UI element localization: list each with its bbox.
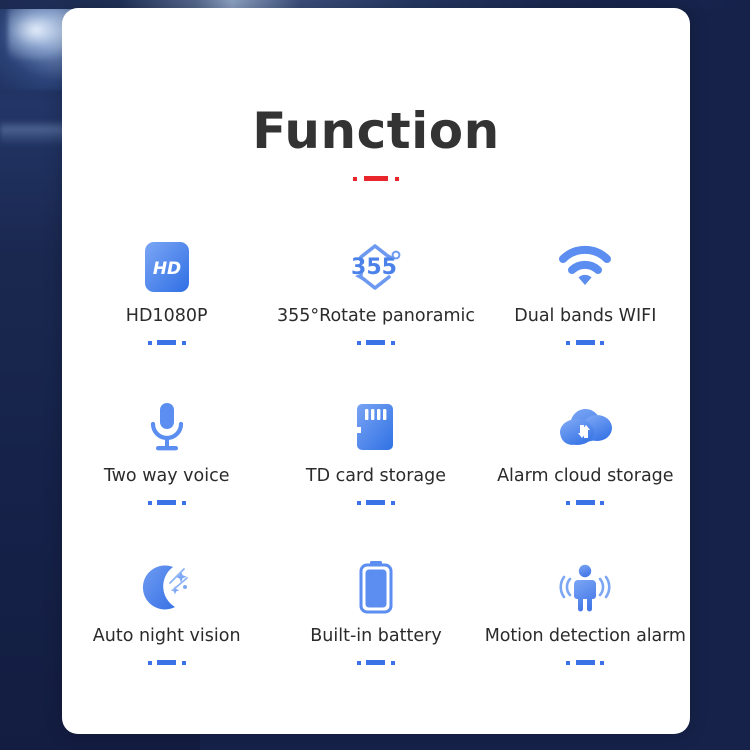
divider-dot-right [182,501,186,505]
divider-dot-left [357,661,361,665]
feature-label: Dual bands WIFI [514,306,656,326]
feature-row: Auto night vision [62,556,690,716]
divider-bar [576,660,595,665]
feature-divider [148,660,186,665]
divider-dot-right [600,501,604,505]
title-divider [353,176,399,181]
feature-divider [566,340,604,345]
feature-divider [148,500,186,505]
divider-dot-right [600,661,604,665]
divider-dot-left [353,177,357,181]
feature-divider [148,340,186,345]
divider-dot-left [148,501,152,505]
feature-label: Two way voice [104,466,230,486]
feature-label: TD card storage [306,466,446,486]
feature-item-td-card-storage[interactable]: TD card storage [271,396,480,556]
feature-label: HD1080P [126,306,208,326]
divider-bar [366,660,385,665]
page-title: Function [62,8,690,160]
motion-person-icon [556,556,614,618]
feature-label: Auto night vision [93,626,241,646]
divider-dot-left [566,341,570,345]
divider-dot-right [182,341,186,345]
wifi-icon [556,236,614,298]
feature-item-355-rotate[interactable]: 355 355°Rotate panoramic [271,236,480,396]
feature-label: Built-in battery [310,626,441,646]
divider-dot-left [357,501,361,505]
divider-dot-right [391,661,395,665]
divider-dot-left [566,661,570,665]
svg-text:HD: HD [152,259,180,279]
divider-dot-left [357,341,361,345]
feature-item-alarm-cloud-storage[interactable]: Alarm cloud storage [481,396,690,556]
feature-grid: HD HD1080P [62,236,690,716]
feature-label: Alarm cloud storage [497,466,674,486]
divider-bar [366,500,385,505]
divider-dot-right [182,661,186,665]
divider-bar [366,340,385,345]
feature-divider [357,500,395,505]
cloud-sync-icon [555,396,615,458]
divider-dot-left [566,501,570,505]
divider-dot-right [395,177,399,181]
battery-icon [357,556,395,618]
feature-divider [566,500,604,505]
rotate-355-degrees-icon: 355 [346,236,406,298]
divider-dot-left [148,661,152,665]
divider-bar [576,340,595,345]
feature-divider [566,660,604,665]
divider-dot-right [391,341,395,345]
divider-bar [157,660,176,665]
poster-stage: Function [0,0,750,750]
feature-item-two-way-voice[interactable]: Two way voice [62,396,271,556]
feature-label: 355°Rotate panoramic [277,306,475,326]
feature-item-auto-night-vision[interactable]: Auto night vision [62,556,271,716]
svg-text:355: 355 [351,255,397,280]
feature-item-hd1080p[interactable]: HD HD1080P [62,236,271,396]
sd-card-icon [353,396,399,458]
feature-label: Motion detection alarm [485,626,686,646]
moon-stars-icon [140,556,194,618]
divider-bar [157,340,176,345]
feature-row: HD HD1080P [62,236,690,396]
feature-card: Function [62,8,690,734]
divider-bar [157,500,176,505]
feature-row: Two way voice [62,396,690,556]
divider-dot-right [600,341,604,345]
feature-item-built-in-battery[interactable]: Built-in battery [271,556,480,716]
feature-item-motion-detection-alarm[interactable]: Motion detection alarm [481,556,690,716]
divider-dot-right [391,501,395,505]
divider-bar [364,176,388,181]
divider-dot-left [148,341,152,345]
hd-badge-icon: HD [144,236,190,298]
microphone-icon [145,396,189,458]
divider-bar [576,500,595,505]
feature-divider [357,660,395,665]
feature-item-dual-bands-wifi[interactable]: Dual bands WIFI [481,236,690,396]
feature-divider [357,340,395,345]
